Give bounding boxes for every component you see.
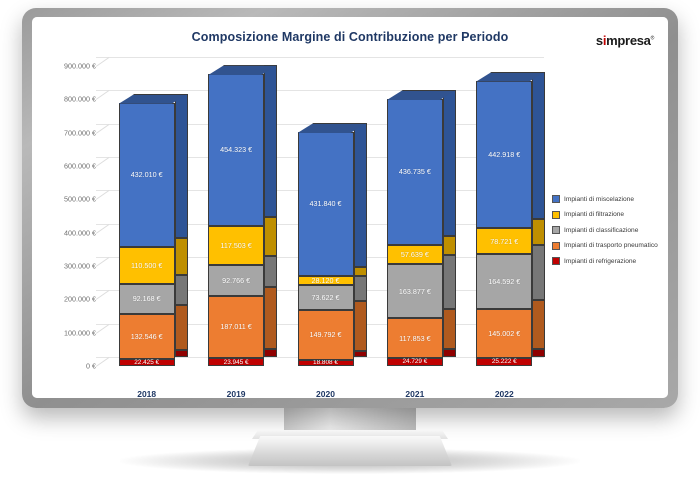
plot-area: 0 €100.000 €200.000 €300.000 €400.000 €5… (44, 57, 544, 387)
legend-item[interactable]: Impianti di trasporto pneumatico (552, 242, 668, 250)
bar-segment-side (354, 276, 367, 301)
bar-segment-label: 187.011 € (209, 297, 263, 357)
bar-segment-side (354, 267, 367, 276)
bar-segment-side (264, 217, 277, 256)
y-axis-tick-label: 400.000 € (64, 228, 96, 237)
bar-segment-label: 73.622 € (299, 286, 353, 309)
bar-column[interactable]: 23.945 €187.011 €92.766 €117.503 €454.32… (208, 66, 264, 366)
bar-segment-label: 24.729 € (388, 359, 442, 365)
bar-segment-label: 110.500 € (120, 248, 174, 283)
bar-segment-side (264, 349, 277, 357)
bar-segment[interactable]: 149.792 € (298, 310, 354, 360)
legend-item[interactable]: Impianti di classificazione (552, 226, 668, 234)
bar-segment-label: 436.735 € (388, 100, 442, 244)
bar-column[interactable]: 25.222 €145.002 €164.592 €78.721 €442.91… (476, 66, 532, 366)
bar-segment-label: 92.168 € (120, 285, 174, 314)
bar-segment-side (175, 305, 188, 349)
bar-segment-side (264, 287, 277, 349)
bar-segment-side (532, 349, 545, 357)
bar-segment-side (532, 245, 545, 300)
chart-title: Composizione Margine di Contribuzione pe… (32, 30, 668, 44)
bar-segment-label: 132.546 € (120, 315, 174, 357)
chart-legend: Impianti di miscelazioneImpianti di filt… (552, 195, 668, 273)
bar-column[interactable]: 22.425 €132.546 €92.168 €110.500 €432.01… (119, 66, 175, 366)
bar-segment-label: 149.792 € (299, 311, 353, 359)
bar-segment-label: 163.877 € (388, 265, 442, 318)
bar-segment-side (532, 72, 545, 220)
legend-swatch-icon (552, 226, 560, 234)
y-axis-tick-label: 600.000 € (64, 162, 96, 171)
bar-segment[interactable]: 57.639 € (387, 245, 443, 264)
bar-segment[interactable]: 187.011 € (208, 296, 264, 358)
bar-segment[interactable]: 431.840 € (298, 132, 354, 276)
x-axis-tick-label: 2021 (387, 389, 443, 398)
x-axis: 20182019202020212022 (96, 389, 544, 398)
y-axis-tick-label: 700.000 € (64, 128, 96, 137)
legend-item[interactable]: Impianti di refrigerazione (552, 257, 668, 265)
bar-column[interactable]: 18.808 €149.792 €73.622 €28.120 €431.840… (298, 66, 354, 366)
bar-segment-label: 117.853 € (388, 319, 442, 356)
y-axis-tick-label: 100.000 € (64, 328, 96, 337)
y-axis: 0 €100.000 €200.000 €300.000 €400.000 €5… (44, 57, 96, 387)
bar-segment[interactable]: 442.918 € (476, 81, 532, 229)
brand-logo-trademark: ® (651, 36, 654, 42)
bar-segment[interactable]: 92.168 € (119, 284, 175, 315)
legend-item-label: Impianti di trasporto pneumatico (564, 242, 658, 249)
legend-item-label: Impianti di refrigerazione (564, 258, 636, 265)
bar-segment[interactable]: 145.002 € (476, 309, 532, 357)
bar-segment-side (264, 256, 277, 287)
bar-segment-side (532, 219, 545, 245)
y-axis-tick-label: 300.000 € (64, 262, 96, 271)
y-axis-tick-label: 900.000 € (64, 62, 96, 71)
bar-segment-side (264, 65, 277, 216)
bar-segment-label: 442.918 € (477, 82, 531, 228)
brand-logo-pre: s (596, 33, 603, 48)
bar-segment-side (175, 350, 188, 357)
bar-segment-side (354, 123, 367, 267)
bar-segment-label: 25.222 € (477, 359, 531, 365)
bar-segment-side (175, 94, 188, 238)
bar-segment-side (354, 351, 367, 357)
legend-swatch-icon (552, 195, 560, 203)
brand-logo-post: mpresa (606, 33, 650, 48)
legend-item-label: Impianti di classificazione (564, 227, 638, 234)
bar-segment-label: 432.010 € (120, 104, 174, 246)
bar-segment-label: 18.808 € (299, 361, 353, 365)
monitor-screen: Composizione Margine di Contribuzione pe… (32, 17, 668, 398)
bar-group: 22.425 €132.546 €92.168 €110.500 €432.01… (96, 57, 544, 387)
legend-item-label: Impianti di filtrazione (564, 211, 624, 218)
bar-segment[interactable]: 432.010 € (119, 103, 175, 247)
bar-segment-label: 23.945 € (209, 359, 263, 365)
bar-segment-label: 92.766 € (209, 266, 263, 295)
x-axis-tick-label: 2022 (476, 389, 532, 398)
bar-segment-side (175, 275, 188, 306)
bar-segment-side (443, 236, 456, 255)
bar-segment-label: 22.425 € (120, 360, 174, 365)
bar-segment[interactable]: 92.766 € (208, 265, 264, 296)
monitor-bezel: Composizione Margine di Contribuzione pe… (22, 8, 678, 408)
y-axis-tick-label: 200.000 € (64, 295, 96, 304)
bar-segment[interactable]: 78.721 € (476, 228, 532, 254)
bar-segment[interactable]: 25.222 € (476, 358, 532, 366)
bar-segment[interactable]: 132.546 € (119, 314, 175, 358)
bar-segment[interactable]: 436.735 € (387, 99, 443, 245)
legend-swatch-icon (552, 242, 560, 250)
bar-segment[interactable]: 164.592 € (476, 254, 532, 309)
bar-segment[interactable]: 163.877 € (387, 264, 443, 319)
bar-segment[interactable]: 24.729 € (387, 358, 443, 366)
bar-segment-side (175, 238, 188, 275)
legend-swatch-icon (552, 257, 560, 265)
legend-swatch-icon (552, 211, 560, 219)
bar-segment-label: 431.840 € (299, 133, 353, 275)
monitor-mockup: Composizione Margine di Contribuzione pe… (0, 0, 700, 487)
bar-segment[interactable]: 23.945 € (208, 358, 264, 366)
bar-segment-side (443, 90, 456, 236)
bar-segment[interactable]: 110.500 € (119, 247, 175, 284)
y-axis-tick-label: 500.000 € (64, 195, 96, 204)
bar-segment[interactable]: 18.808 € (298, 360, 354, 366)
brand-logo: simpresa® (596, 33, 654, 48)
y-axis-tick-label: 800.000 € (64, 95, 96, 104)
bar-segment[interactable]: 73.622 € (298, 285, 354, 310)
monitor-stand (248, 436, 452, 466)
bar-segment-label: 145.002 € (477, 310, 531, 356)
bar-segment[interactable]: 22.425 € (119, 359, 175, 366)
bar-segment-side (354, 301, 367, 351)
bar-segment-label: 28.120 € (299, 277, 353, 284)
bar-segment-label: 454.323 € (209, 75, 263, 224)
bar-column[interactable]: 24.729 €117.853 €163.877 €57.639 €436.73… (387, 66, 443, 366)
bar-segment-side (532, 300, 545, 348)
bar-segment[interactable]: 454.323 € (208, 74, 264, 225)
bar-segment-label: 57.639 € (388, 246, 442, 263)
bar-segment-label: 164.592 € (477, 255, 531, 308)
bar-segment[interactable]: 28.120 € (298, 276, 354, 285)
bar-segment-label: 78.721 € (477, 229, 531, 253)
bar-segment-side (443, 309, 456, 348)
legend-item[interactable]: Impianti di miscelazione (552, 195, 668, 203)
x-axis-tick-label: 2019 (208, 389, 264, 398)
bar-segment-side (443, 349, 456, 357)
legend-item-label: Impianti di miscelazione (564, 196, 634, 203)
bar-segment[interactable]: 117.853 € (387, 318, 443, 357)
x-axis-tick-label: 2018 (119, 389, 175, 398)
bar-segment[interactable]: 117.503 € (208, 226, 264, 265)
bar-segment-label: 117.503 € (209, 227, 263, 264)
y-axis-tick-label: 0 € (86, 362, 96, 371)
legend-item[interactable]: Impianti di filtrazione (552, 211, 668, 219)
chart-canvas: Composizione Margine di Contribuzione pe… (32, 17, 668, 398)
bar-segment-side (443, 255, 456, 310)
x-axis-tick-label: 2020 (298, 389, 354, 398)
